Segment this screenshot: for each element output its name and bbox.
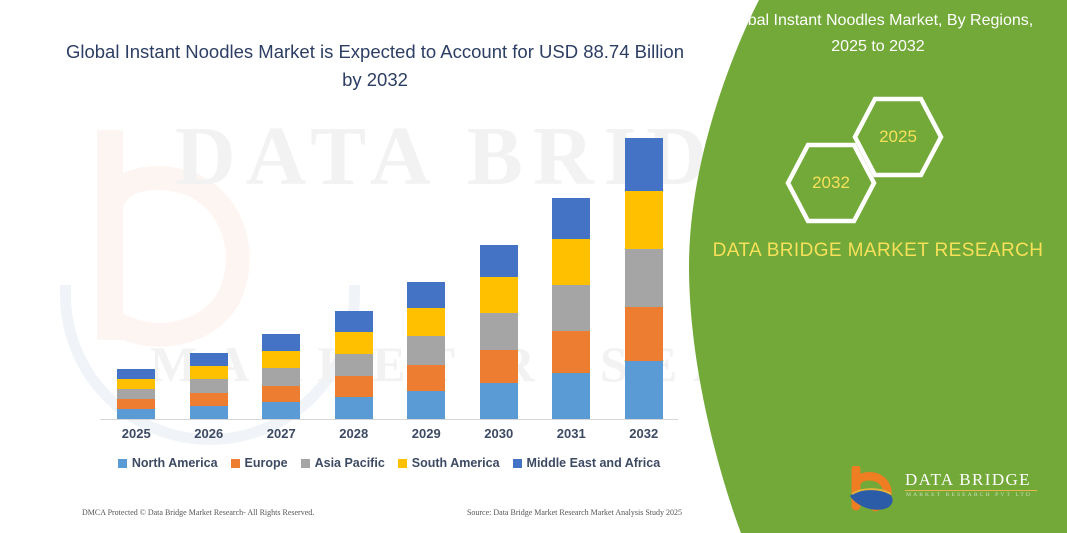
bar-segment[interactable] — [335, 397, 373, 420]
bar-segment[interactable] — [190, 353, 228, 366]
bar-segment[interactable] — [625, 138, 663, 191]
logo-tagline: MARKET RESEARCH PVT LTD — [906, 492, 1032, 498]
bar-segment[interactable] — [117, 379, 155, 389]
bar-segment[interactable] — [335, 354, 373, 376]
legend-label: Europe — [245, 456, 288, 470]
x-axis-tick-2025: 2025 — [106, 426, 166, 441]
footer: DMCA Protected © Data Bridge Market Rese… — [82, 508, 682, 517]
chart-baseline — [100, 419, 678, 420]
bar-segment[interactable] — [552, 373, 590, 420]
legend-swatch-icon — [513, 459, 522, 468]
bar-segment[interactable] — [117, 399, 155, 409]
legend-item[interactable]: Asia Pacific — [301, 456, 385, 470]
x-axis-tick-2029: 2029 — [396, 426, 456, 441]
bar-group-2030[interactable] — [480, 245, 518, 420]
bar-segment[interactable] — [262, 402, 300, 420]
bar-segment[interactable] — [625, 249, 663, 307]
bar-segment[interactable] — [552, 198, 590, 239]
legend-label: Middle East and Africa — [527, 456, 661, 470]
bar-segment[interactable] — [480, 245, 518, 278]
x-axis-tick-2030: 2030 — [469, 426, 529, 441]
bar-segment[interactable] — [117, 389, 155, 399]
chart-legend: North AmericaEuropeAsia PacificSouth Ame… — [100, 456, 678, 470]
chart-panel: DATA BRIDGE MARKET RESEARCH Global Insta… — [0, 0, 760, 533]
legend-item[interactable]: Middle East and Africa — [513, 456, 661, 470]
bar-segment[interactable] — [625, 307, 663, 361]
legend-item[interactable]: North America — [118, 456, 218, 470]
bar-segment[interactable] — [190, 366, 228, 380]
bar-group-2028[interactable] — [335, 311, 373, 420]
bar-segment[interactable] — [552, 239, 590, 285]
bar-segment[interactable] — [190, 393, 228, 406]
data-bridge-logo-icon — [847, 466, 899, 512]
bar-segment[interactable] — [480, 350, 518, 384]
bar-segment[interactable] — [190, 379, 228, 393]
bar-segment[interactable] — [625, 191, 663, 249]
legend-item[interactable]: South America — [398, 456, 500, 470]
bar-group-2025[interactable] — [117, 369, 155, 420]
footer-source: Source: Data Bridge Market Research Mark… — [467, 508, 682, 517]
bar-group-2029[interactable] — [407, 282, 445, 420]
legend-item[interactable]: Europe — [231, 456, 288, 470]
bar-group-2027[interactable] — [262, 334, 300, 420]
legend-label: North America — [132, 456, 218, 470]
legend-swatch-icon — [231, 459, 240, 468]
hexagon-start-year-label: 2025 — [879, 127, 917, 147]
bar-segment[interactable] — [625, 361, 663, 420]
x-axis-labels: 20252026202720282029203020312032 — [100, 426, 678, 448]
bar-group-2032[interactable] — [625, 138, 663, 420]
x-axis-tick-2026: 2026 — [179, 426, 239, 441]
bar-segment[interactable] — [262, 351, 300, 369]
bar-segment[interactable] — [262, 368, 300, 386]
bar-segment[interactable] — [480, 313, 518, 349]
logo-divider — [905, 490, 1037, 491]
bar-segment[interactable] — [190, 406, 228, 420]
bar-segment[interactable] — [552, 331, 590, 374]
hexagon-end-year-label: 2032 — [812, 173, 850, 193]
logo-wordmark: DATA BRIDGE — [905, 470, 1031, 490]
brand-name: DATA BRIDGE MARKET RESEARCH — [703, 236, 1053, 266]
legend-swatch-icon — [398, 459, 407, 468]
x-axis-tick-2028: 2028 — [324, 426, 384, 441]
x-axis-tick-2027: 2027 — [251, 426, 311, 441]
legend-swatch-icon — [301, 459, 310, 468]
company-logo: DATA BRIDGE MARKET RESEARCH PVT LTD — [847, 462, 1047, 518]
bar-segment[interactable] — [335, 311, 373, 331]
bar-segment[interactable] — [407, 308, 445, 336]
bar-segment[interactable] — [335, 332, 373, 354]
bar-segment[interactable] — [480, 277, 518, 313]
legend-label: South America — [412, 456, 500, 470]
brand-panel: Global Instant Noodles Market, By Region… — [667, 0, 1067, 533]
x-axis-tick-2031: 2031 — [541, 426, 601, 441]
bar-group-2031[interactable] — [552, 198, 590, 420]
brand-panel-title: Global Instant Noodles Market, By Region… — [713, 8, 1043, 60]
bar-segment[interactable] — [407, 391, 445, 420]
bar-segment[interactable] — [262, 334, 300, 350]
legend-label: Asia Pacific — [315, 456, 385, 470]
bar-segment[interactable] — [117, 369, 155, 379]
hexagon-start-year: 2025 — [852, 96, 944, 178]
bar-segment[interactable] — [262, 386, 300, 402]
bar-segment[interactable] — [552, 285, 590, 331]
footer-copyright: DMCA Protected © Data Bridge Market Rese… — [82, 508, 314, 517]
bar-segment[interactable] — [335, 376, 373, 397]
x-axis-tick-2032: 2032 — [614, 426, 674, 441]
bar-chart-plot-area — [100, 120, 680, 420]
bar-segment[interactable] — [407, 336, 445, 364]
legend-swatch-icon — [118, 459, 127, 468]
bar-segment[interactable] — [480, 383, 518, 420]
bar-segment[interactable] — [407, 282, 445, 308]
bar-group-2026[interactable] — [190, 353, 228, 420]
bar-segment[interactable] — [407, 365, 445, 392]
page-title: Global Instant Noodles Market is Expecte… — [60, 38, 690, 94]
